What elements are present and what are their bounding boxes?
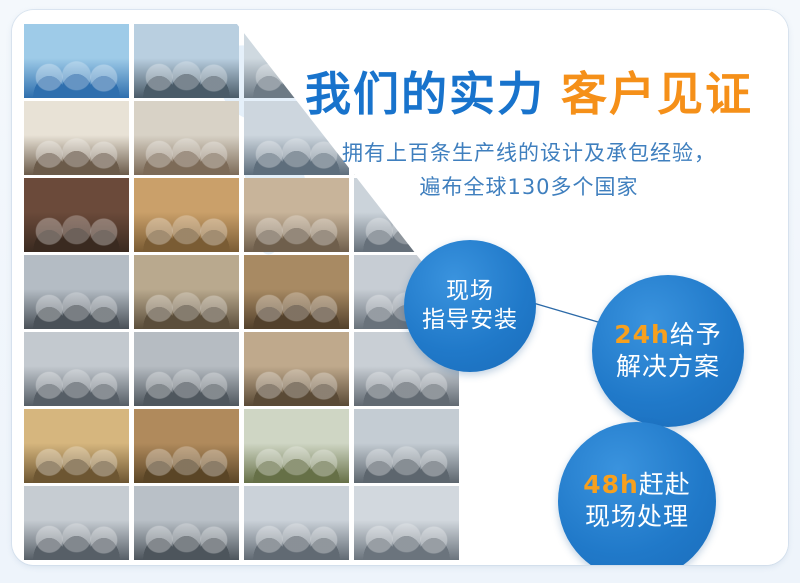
- photo-tile-image: [134, 332, 239, 406]
- photo-tile: [24, 409, 129, 483]
- photo-tile-image: [24, 255, 129, 329]
- subtitle-line-1: 拥有上百条生产线的设计及承包经验，: [284, 136, 774, 170]
- bubble-3-line-1: 48h赶赴: [583, 469, 691, 501]
- photo-tile-image: [354, 486, 459, 560]
- photo-tile: [244, 255, 349, 329]
- photo-tile: [134, 255, 239, 329]
- photo-tile: [244, 332, 349, 406]
- bubble-1-line-2: 指导安装: [422, 306, 518, 335]
- photo-tile-image: [134, 409, 239, 483]
- bubble-3-line-2: 现场处理: [585, 501, 689, 533]
- photo-tile: [134, 101, 239, 175]
- bubble-2-accent: 24h: [614, 320, 670, 349]
- photo-tile: [354, 486, 459, 560]
- photo-tile: [24, 178, 129, 252]
- photo-tile-image: [24, 101, 129, 175]
- bubble-3-accent: 48h: [583, 470, 639, 499]
- photo-tile: [134, 332, 239, 406]
- service-bubble-24h-solution[interactable]: 24h给予 解决方案: [592, 275, 744, 427]
- photo-tile-image: [134, 101, 239, 175]
- page-root: 我们的实力 客户见证 拥有上百条生产线的设计及承包经验， 遍布全球130多个国家…: [0, 0, 800, 583]
- photo-tile: [244, 486, 349, 560]
- photo-tile-image: [24, 409, 129, 483]
- photo-tile: [24, 255, 129, 329]
- photo-tile-image: [244, 409, 349, 483]
- photo-tile-image: [134, 24, 239, 98]
- photo-tile-image: [244, 255, 349, 329]
- photo-tile-image: [354, 409, 459, 483]
- photo-tile: [244, 409, 349, 483]
- photo-tile: [134, 409, 239, 483]
- photo-tile: [24, 332, 129, 406]
- page-title: 我们的实力 客户见证: [284, 60, 774, 122]
- photo-tile-image: [24, 24, 129, 98]
- photo-tile-image: [244, 332, 349, 406]
- bubble-2-line-2: 解决方案: [616, 351, 720, 383]
- photo-tile: [354, 409, 459, 483]
- photo-tile-image: [134, 178, 239, 252]
- bubble-2-line-1: 24h给予: [614, 319, 722, 351]
- photo-tile-image: [24, 332, 129, 406]
- bubble-1-line-1: 现场: [446, 277, 494, 306]
- photo-tile: [24, 24, 129, 98]
- subtitle-line-2: 遍布全球130多个国家: [284, 170, 774, 204]
- photo-tile: [134, 24, 239, 98]
- photo-tile-image: [24, 486, 129, 560]
- photo-tile-image: [134, 486, 239, 560]
- photo-tile: [134, 486, 239, 560]
- promo-card: 我们的实力 客户见证 拥有上百条生产线的设计及承包经验， 遍布全球130多个国家…: [12, 10, 788, 565]
- title-part-blue: 我们的实力: [305, 58, 545, 124]
- photo-tile: [24, 101, 129, 175]
- photo-tile-image: [24, 178, 129, 252]
- service-bubble-onsite-installation[interactable]: 现场 指导安装: [404, 240, 536, 372]
- photo-tile-image: [244, 486, 349, 560]
- page-subtitle: 拥有上百条生产线的设计及承包经验， 遍布全球130多个国家: [284, 136, 774, 204]
- title-part-orange: 客户见证: [561, 58, 753, 124]
- bubble-3-line-1-rest: 赶赴: [639, 470, 691, 499]
- photo-tile: [24, 486, 129, 560]
- photo-tile-image: [134, 255, 239, 329]
- photo-tile: [134, 178, 239, 252]
- bubble-2-line-1-rest: 给予: [670, 320, 722, 349]
